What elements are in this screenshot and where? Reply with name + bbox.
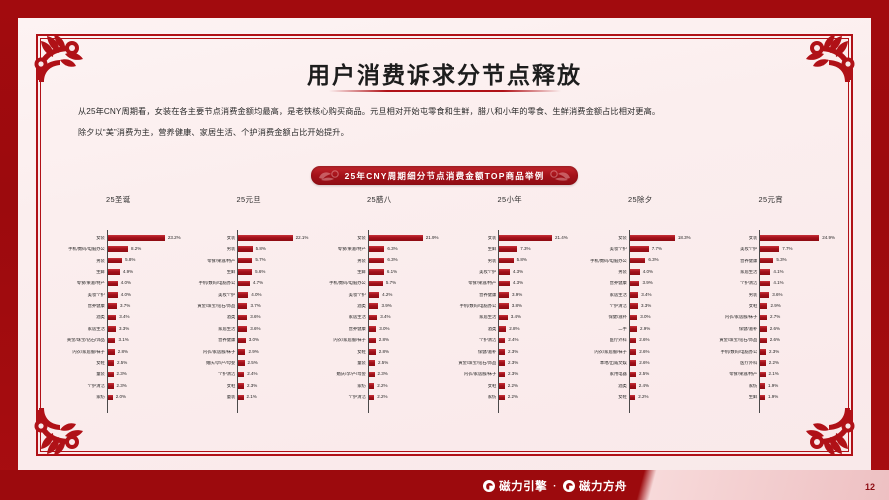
chart-axis-line [237, 230, 238, 413]
intro-paragraph-1: 从25年CNY周期看，女装在各主要节点消费金额均最高，是老铁核心购买商品。元旦相… [78, 106, 811, 118]
chart-category-label: 手机/数码/电脑办公 [317, 281, 369, 285]
chart-category-label: 个护清洁 [709, 281, 761, 285]
chart-value-label: 2.6% [770, 327, 780, 332]
chart-bar [630, 338, 636, 344]
chart-bar-zone: 3.0% [238, 338, 313, 344]
chart-value-label: 3.6% [772, 293, 782, 298]
chart-category-label: 生鲜 [317, 270, 369, 274]
chart-bar-zone: 2.4% [630, 383, 705, 389]
slide-root: 用户消费诉求分节点释放 从25年CNY周期看，女装在各主要节点消费金额均最高，是… [0, 0, 889, 500]
chart-bar-row: 婚庆/孕/产/母婴2.3% [317, 370, 444, 380]
chart-bar [108, 372, 114, 378]
chart-value-label: 3.9% [642, 281, 652, 286]
chart-value-label: 5.8% [256, 247, 266, 252]
chart-value-label: 3.1% [118, 338, 128, 343]
chart-bar-row: 女装22.1% [187, 233, 314, 243]
chart-bar-row: 个护清洁2.4% [187, 370, 314, 380]
chart-bar-row: 酒类3.4% [56, 313, 183, 323]
magnetic-engine-logo-icon [483, 480, 495, 492]
chart-bar [108, 292, 118, 298]
chart-category-label: 女装 [317, 236, 369, 240]
chart-bar-row: 家居生活3.4% [448, 313, 575, 323]
chart-value-label: 2.8% [118, 350, 128, 355]
chart-bar [630, 315, 637, 321]
chart-category-label: 零食/果滋/特产 [317, 247, 369, 251]
chart-value-label: 5.7% [386, 281, 396, 286]
chart-bar-zone: 4.1% [760, 281, 835, 287]
chart-category-label: 男装 [709, 293, 761, 297]
chart-value-label: 3.0% [640, 315, 650, 320]
chart-value-label: 2.3% [378, 372, 388, 377]
chart-bar-zone: 5.8% [499, 258, 574, 264]
chart-value-label: 2.6% [639, 350, 649, 355]
chart-bar [630, 235, 675, 241]
chart-category-label: 女鞋 [578, 395, 630, 399]
chart-bar-row: 家用电器2.5% [578, 370, 705, 380]
chart-value-label: 2.3% [508, 372, 518, 377]
chart-bar-row: 生鲜1.9% [709, 392, 836, 402]
chart-bar-zone: 4.0% [108, 281, 183, 287]
chart-bar-row: 女装21.9% [317, 233, 444, 243]
chart-bar-zone: 5.8% [238, 246, 313, 252]
ribbon-flourish-right-icon [546, 168, 572, 183]
chart-value-label: 2.3% [769, 350, 779, 355]
chart-value-label: 2.5% [378, 361, 388, 366]
chart-bar [760, 360, 765, 366]
chart-bar [499, 281, 510, 287]
chart-category-label: 内衣/家居服/袜子 [56, 350, 108, 354]
chart-bar-row: 内衣/家居服/袜子2.3% [448, 370, 575, 380]
chart-category-label: 女鞋 [448, 384, 500, 388]
chart-bar-row: 黄金/珠宝/钻石/饰品2.3% [448, 358, 575, 368]
chart-bar-zone: 3.9% [630, 281, 705, 287]
chart-bar-row: 营养健康3.9% [578, 279, 705, 289]
chart-bar [238, 281, 250, 287]
chart-bar [630, 246, 649, 252]
section-ribbon-container: 25年CNY周期细分节点消费金额TOP商品举例 [18, 166, 871, 185]
chart-bar-row: 黄金/珠宝/钻石/饰品3.7% [187, 301, 314, 311]
chart-bar-row: 女装24.9% [709, 233, 836, 243]
chart-bar-zone: 2.9% [238, 349, 313, 355]
chart-bar [760, 246, 779, 252]
chart-bar-row: 美妆个护7.7% [578, 244, 705, 254]
chart-category-label: 童装 [317, 361, 369, 365]
chart-value-label: 2.3% [508, 350, 518, 355]
chart-category-label: 家居生活 [187, 327, 239, 331]
chart-bar-zone: 2.6% [760, 338, 835, 344]
chart-panel: 25圣诞女装23.2%手机/数码/电脑办公8.2%男装5.8%生鲜4.9%零食/… [54, 194, 183, 414]
chart-category-label: 个护清洁 [56, 384, 108, 388]
chart-bar [499, 292, 509, 298]
chart-bar [499, 315, 507, 321]
chart-bar-row: 男装5.8% [56, 256, 183, 266]
chart-value-label: 2.2% [377, 395, 387, 400]
chart-bar [369, 246, 384, 252]
chart-bar-zone: 2.3% [499, 372, 574, 378]
chart-panel-header: 25圣诞 [54, 194, 183, 205]
chart-bar-row: 童装2.5% [317, 358, 444, 368]
chart-category-label: 家纺 [56, 395, 108, 399]
chart-category-label: 女鞋 [317, 350, 369, 354]
chart-value-label: 2.0% [116, 395, 126, 400]
chart-bar-row: 个护清洁2.2% [317, 392, 444, 402]
chart-value-label: 3.3% [641, 304, 651, 309]
chart-panel: 25除夕女装18.3%美妆个护7.7%手机/数码/电脑办公6.3%男装4.0%营… [576, 194, 705, 414]
chart-bar-row: 营养健康5.3% [709, 256, 836, 266]
chart-bar-zone: 23.2% [108, 235, 183, 241]
chart-value-label: 2.5% [248, 361, 258, 366]
chart-bar-zone: 3.3% [630, 303, 705, 309]
chart-bar-row: 个护清洁4.1% [709, 279, 836, 289]
chart-value-label: 7.7% [652, 247, 662, 252]
chart-category-label: 童装 [187, 395, 239, 399]
chart-bar-zone: 2.2% [369, 395, 444, 401]
chart-category-label: 女鞋 [56, 361, 108, 365]
chart-bar-row: 生鲜7.3% [448, 244, 575, 254]
chart-value-label: 2.8% [379, 350, 389, 355]
chart-value-label: 2.5% [639, 372, 649, 377]
chart-bar [238, 360, 244, 366]
chart-category-label: 酒类 [448, 327, 500, 331]
chart-value-label: 2.4% [508, 338, 518, 343]
chart-bar [238, 258, 252, 264]
chart-bar-zone: 2.3% [499, 360, 574, 366]
chart-value-label: 2.8% [379, 338, 389, 343]
chart-bar-row: 手机/数码/电脑办公8.2% [56, 244, 183, 254]
chart-bar-zone: 2.6% [630, 349, 705, 355]
chart-bar [369, 269, 384, 275]
chart-category-label: 保健/滋补 [709, 327, 761, 331]
chart-value-label: 3.4% [641, 293, 651, 298]
chart-category-label: 内衣/家居服/袜子 [578, 350, 630, 354]
chart-value-label: 5.3% [776, 258, 786, 263]
chart-value-label: 2.6% [770, 338, 780, 343]
chart-bar-row: 美妆个护4.0% [187, 290, 314, 300]
chart-bar-zone: 6.3% [369, 258, 444, 264]
chart-bar-row: 酒类2.8% [448, 324, 575, 334]
chart-bar-row: 男装3.6% [709, 290, 836, 300]
chart-bar [630, 326, 637, 332]
chart-bar-row: 零食/果滋/特产4.0% [56, 279, 183, 289]
chart-bar-zone: 2.5% [238, 360, 313, 366]
chart-value-label: 21.9% [426, 236, 439, 241]
chart-bar-zone: 2.4% [499, 338, 574, 344]
chart-bar-row: 医疗外科2.6% [578, 336, 705, 346]
chart-bar-zone: 5.8% [108, 258, 183, 264]
chart-bar-zone: 2.8% [369, 338, 444, 344]
chart-value-label: 2.6% [639, 338, 649, 343]
chart-bar-row: 营养健康3.9% [448, 290, 575, 300]
chart-category-label: 手机/数码/电脑办公 [187, 281, 239, 285]
chart-value-label: 24.9% [822, 236, 835, 241]
chart-category-label: 家居生活 [56, 327, 108, 331]
chart-bar-row: 婚庆/孕/产/母婴2.5% [187, 358, 314, 368]
footer-brand-logo: 磁力引擎 · 磁力方舟 [483, 478, 627, 494]
chart-bar-zone: 3.0% [630, 315, 705, 321]
chart-bar [630, 258, 645, 264]
chart-bar [760, 281, 770, 287]
chart-bar [499, 349, 505, 355]
chart-category-label: 个护清洁 [448, 338, 500, 342]
chart-category-label: 手机/数码/电脑办公 [448, 304, 500, 308]
chart-bar-row: 二手2.9% [578, 324, 705, 334]
chart-bar [760, 315, 767, 321]
chart-category-label: 营养健康 [317, 327, 369, 331]
chart-bar [760, 372, 765, 378]
chart-category-label: 女装 [448, 236, 500, 240]
chart-category-label: 女装 [578, 236, 630, 240]
chart-category-label: 二手 [578, 327, 630, 331]
chart-bar [108, 395, 113, 401]
chart-value-label: 3.4% [511, 315, 521, 320]
chart-category-label: 酒类 [578, 384, 630, 388]
chart-category-label: 手机/数码/电脑办公 [578, 259, 630, 263]
chart-value-label: 2.4% [247, 372, 257, 377]
chart-bar-zone: 2.5% [369, 360, 444, 366]
chart-category-label: 内衣/家居服/袜子 [187, 350, 239, 354]
chart-bar-row: 生鲜4.9% [56, 267, 183, 277]
magnetic-ark-logo-icon [563, 480, 575, 492]
chart-panel-header: 25腊八 [315, 194, 444, 205]
section-ribbon-label: 25年CNY周期细分节点消费金额TOP商品举例 [345, 170, 545, 182]
chart-bar [760, 269, 770, 275]
chart-bar [238, 269, 252, 275]
chart-value-label: 4.2% [382, 293, 392, 298]
chart-value-label: 5.8% [125, 258, 135, 263]
chart-bar [499, 269, 510, 275]
chart-category-label: 女装 [56, 236, 108, 240]
chart-value-label: 4.0% [251, 293, 261, 298]
chart-bar-zone: 2.2% [499, 395, 574, 401]
chart-panel-header: 25小年 [446, 194, 575, 205]
chart-category-label: 个护清洁 [317, 395, 369, 399]
intro-paragraphs: 从25年CNY周期看，女装在各主要节点消费金额均最高，是老铁核心购买商品。元旦相… [78, 106, 811, 149]
chart-bar [108, 326, 116, 332]
chart-bar-zone: 3.6% [238, 326, 313, 332]
chart-bar [369, 360, 375, 366]
chart-value-label: 3.4% [380, 315, 390, 320]
chart-bar [108, 281, 118, 287]
chart-bar [630, 360, 636, 366]
chart-value-label: 6.3% [387, 247, 397, 252]
chart-value-label: 2.2% [508, 395, 518, 400]
chart-bar [369, 281, 383, 287]
chart-value-label: 3.9% [512, 293, 522, 298]
chart-bar-zone: 3.9% [369, 303, 444, 309]
slide-page: 用户消费诉求分节点释放 从25年CNY周期看，女装在各主要节点消费金额均最高，是… [18, 18, 871, 472]
chart-category-label: 保健/滋补 [578, 315, 630, 319]
chart-category-label: 营养健康 [56, 304, 108, 308]
chart-category-label: 零食/果滋/特产 [448, 281, 500, 285]
chart-bar-row: 内衣/家居服/袜子2.6% [578, 347, 705, 357]
chart-bar [108, 303, 117, 309]
page-number: 12 [865, 482, 875, 492]
chart-category-label: 男装 [187, 247, 239, 251]
chart-value-label: 3.0% [379, 327, 389, 332]
chart-category-label: 零食/果滋/特产 [709, 372, 761, 376]
chart-bar-row: 女鞋2.9% [709, 301, 836, 311]
chart-bar-row: 零食/果滋/特产2.1% [709, 370, 836, 380]
chart-panel: 25腊八女装21.9%零食/果滋/特产6.3%男装6.3%生鲜6.1%手机/数码… [315, 194, 444, 414]
chart-value-label: 2.5% [117, 361, 127, 366]
chart-category-label: 女鞋 [187, 384, 239, 388]
chart-category-label: 男装 [578, 270, 630, 274]
chart-value-label: 21.4% [555, 236, 568, 241]
chart-panel-body: 女装22.1%男装5.8%零食/果滋/特产5.7%生鲜5.6%手机/数码/电脑办… [185, 233, 314, 414]
chart-bar-row: 零食/果滋/特产5.7% [187, 256, 314, 266]
chart-bar [760, 235, 819, 241]
chart-bar-row: 女装18.3% [578, 233, 705, 243]
chart-bar-row: 酒类2.4% [578, 381, 705, 391]
chart-value-label: 6.3% [648, 258, 658, 263]
chart-bar [499, 326, 506, 332]
chart-category-label: 家纺 [448, 395, 500, 399]
chart-bar-zone: 4.0% [108, 292, 183, 298]
chart-bar-row: 本地/出威文娱2.6% [578, 358, 705, 368]
chart-value-label: 1.9% [768, 395, 778, 400]
chart-bar [369, 349, 376, 355]
chart-bar-zone: 6.1% [369, 269, 444, 275]
chart-bar-row: 个护清洁2.3% [56, 381, 183, 391]
chart-category-label: 个护清洁 [187, 372, 239, 376]
chart-value-label: 6.3% [387, 258, 397, 263]
chart-bar-zone: 4.9% [108, 269, 183, 275]
chart-bar-zone: 18.3% [630, 235, 705, 241]
chart-bar [238, 235, 292, 241]
chart-bar [499, 258, 513, 264]
chart-category-label: 家用电器 [578, 372, 630, 376]
chart-bar [238, 303, 247, 309]
title-underline [329, 90, 561, 92]
chart-value-label: 4.0% [121, 281, 131, 286]
chart-bar-row: 女鞋2.2% [448, 381, 575, 391]
chart-category-label: 酒类 [187, 315, 239, 319]
chart-value-label: 4.3% [513, 281, 523, 286]
chart-bar-zone: 2.7% [760, 315, 835, 321]
chart-category-label: 生鲜 [448, 247, 500, 251]
chart-value-label: 4.1% [773, 281, 783, 286]
chart-bar-row: 家居生活3.6% [187, 324, 314, 334]
chart-value-label: 2.3% [508, 361, 518, 366]
chart-bar-zone: 3.0% [369, 326, 444, 332]
chart-value-label: 2.7% [770, 315, 780, 320]
chart-category-label: 女鞋 [709, 304, 761, 308]
chart-bar-zone: 6.3% [369, 246, 444, 252]
chart-bar-zone: 7.3% [499, 246, 574, 252]
chart-bar [369, 315, 377, 321]
chart-bar [238, 326, 247, 332]
chart-value-label: 2.6% [639, 361, 649, 366]
chart-bar [369, 372, 375, 378]
chart-value-label: 3.3% [119, 327, 129, 332]
chart-bar-zone: 2.1% [238, 395, 313, 401]
chart-axis-line [759, 230, 760, 413]
chart-bar [630, 349, 636, 355]
footer-bar: 磁力引擎 · 磁力方舟 12 [0, 470, 889, 500]
chart-category-label: 手机/数码/电脑办公 [709, 350, 761, 354]
chart-panel-body: 女装21.9%零食/果滋/特产6.3%男装6.3%生鲜6.1%手机/数码/电脑办… [315, 233, 444, 414]
chart-category-label: 保健/滋补 [448, 350, 500, 354]
chart-bar [369, 395, 374, 401]
chart-bar-zone: 2.3% [760, 349, 835, 355]
chart-bar-zone: 4.0% [630, 269, 705, 275]
chart-bar-row: 内衣/家居服/袜子2.9% [187, 347, 314, 357]
chart-bar-zone: 2.3% [499, 349, 574, 355]
chart-bar-zone: 2.3% [108, 383, 183, 389]
chart-value-label: 3.8% [512, 304, 522, 309]
chart-bar [238, 338, 245, 344]
chart-bar [108, 246, 128, 252]
chart-value-label: 7.3% [520, 247, 530, 252]
chart-category-label: 生鲜 [709, 395, 761, 399]
chart-bar-zone: 2.0% [108, 395, 183, 401]
chart-value-label: 2.9% [770, 304, 780, 309]
chart-bar [760, 395, 765, 401]
chart-value-label: 3.6% [250, 327, 260, 332]
chart-bar-zone: 2.3% [238, 383, 313, 389]
chart-bar-row: 美妆个护4.3% [448, 267, 575, 277]
chart-value-label: 18.3% [678, 236, 691, 241]
chart-bar [108, 338, 116, 344]
chart-bar [760, 383, 765, 389]
chart-value-label: 4.3% [513, 270, 523, 275]
chart-bar-row: 家居生活3.4% [578, 290, 705, 300]
chart-category-label: 内衣/家居服/袜子 [709, 315, 761, 319]
chart-value-label: 5.8% [517, 258, 527, 263]
chart-category-label: 黄金/珠宝/钻石/饰品 [56, 338, 108, 342]
chart-panel-body: 女装24.9%美妆个护7.7%营养健康5.3%家居生活4.1%个护清洁4.1%男… [707, 233, 836, 414]
chart-bar-zone: 2.8% [108, 349, 183, 355]
brand-secondary-label: 磁力方舟 [579, 478, 627, 494]
chart-value-label: 2.8% [509, 327, 519, 332]
chart-bar [760, 326, 766, 332]
chart-bar-zone: 2.1% [760, 372, 835, 378]
chart-bar-row: 家居生活4.1% [709, 267, 836, 277]
chart-category-label: 酒类 [56, 315, 108, 319]
chart-category-label: 营养健康 [448, 293, 500, 297]
chart-bar [499, 235, 552, 241]
chart-value-label: 2.2% [769, 361, 779, 366]
chart-bar-zone: 21.4% [499, 235, 574, 241]
chart-value-label: 5.7% [255, 258, 265, 263]
chart-category-label: 婚庆/孕/产/母婴 [317, 372, 369, 376]
chart-category-label: 家居生活 [317, 315, 369, 319]
chart-bar-zone: 3.9% [499, 292, 574, 298]
chart-bar-row: 保健/滋补2.6% [709, 324, 836, 334]
chart-bar [238, 395, 243, 401]
chart-bar-zone: 7.7% [760, 246, 835, 252]
page-title: 用户消费诉求分节点释放 [18, 56, 871, 90]
chart-panel: 25元旦女装22.1%男装5.8%零食/果滋/特产5.7%生鲜5.6%手机/数码… [185, 194, 314, 414]
chart-value-label: 4.7% [253, 281, 263, 286]
chart-bar [499, 360, 505, 366]
chart-category-label: 女装 [187, 236, 239, 240]
chart-category-label: 本地/出威文娱 [578, 361, 630, 365]
chart-bar [630, 292, 638, 298]
chart-bar [108, 269, 120, 275]
chart-bar-row: 黄金/珠宝/钻石/饰品3.1% [56, 336, 183, 346]
chart-bar-row: 手机/数码/电脑办公5.7% [317, 279, 444, 289]
chart-bar [760, 338, 766, 344]
chart-bar-zone: 2.9% [760, 303, 835, 309]
chart-bar-row: 男装4.0% [578, 267, 705, 277]
chart-category-label: 婚庆/孕/产/母婴 [187, 361, 239, 365]
chart-bar [108, 258, 122, 264]
chart-bar [499, 303, 508, 309]
chart-category-label: 黄金/珠宝/钻石/饰品 [187, 304, 239, 308]
chart-axis-line [368, 230, 369, 413]
chart-value-label: 1.9% [768, 384, 778, 389]
